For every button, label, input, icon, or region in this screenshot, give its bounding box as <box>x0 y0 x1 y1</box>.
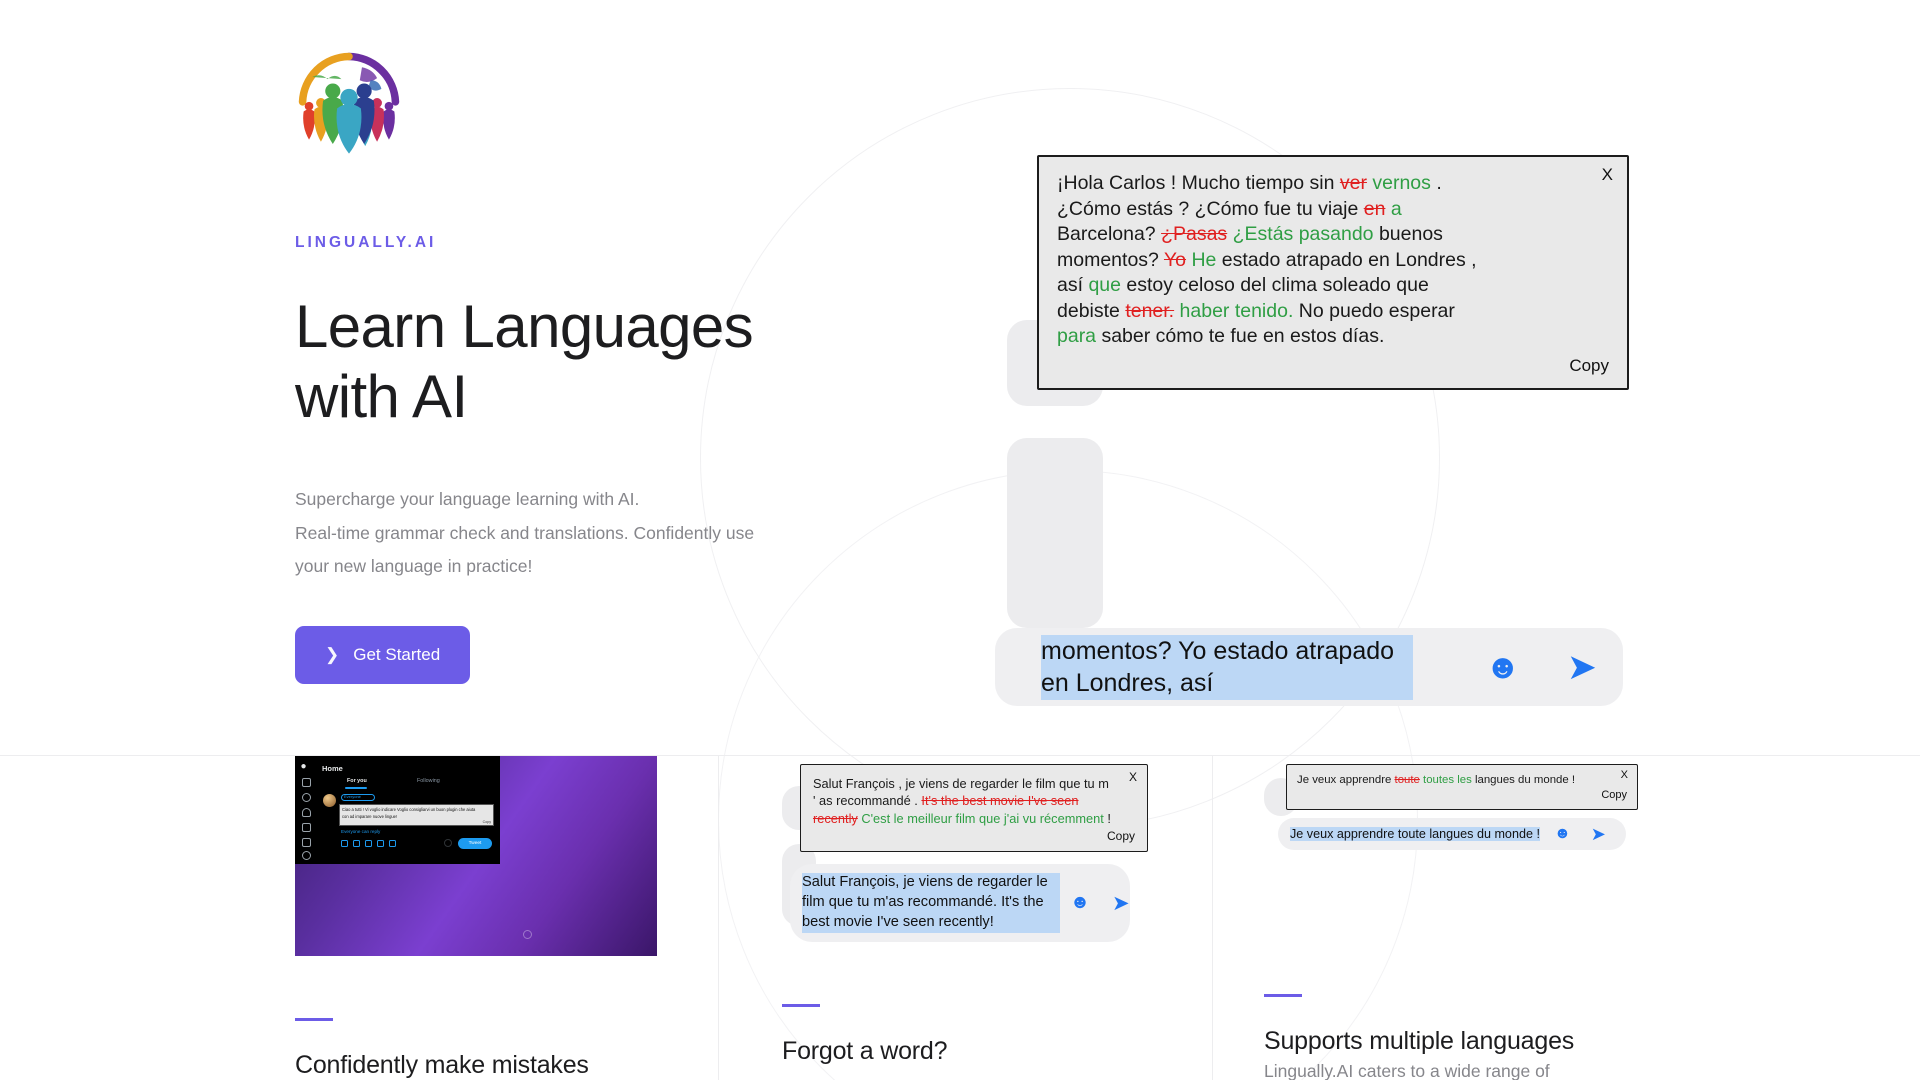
chat-input-value[interactable]: Salut François, je viens de regarder le … <box>802 873 1060 933</box>
reply-setting-label[interactable]: Everyone can reply <box>341 829 380 834</box>
search-icon[interactable] <box>302 793 311 802</box>
correction-text-line-1: Ciao a tutti ! Vi voglio indicare Voglio… <box>342 807 475 812</box>
copy-button[interactable]: Copy <box>1057 356 1609 376</box>
tweet-button[interactable]: Tweet <box>458 838 492 849</box>
deleted-text: toute <box>1395 774 1420 786</box>
inserted-text: toutes les <box>1423 774 1472 786</box>
copy-button[interactable]: Copy <box>813 829 1135 843</box>
plain-text: No puedo esperar <box>1293 300 1455 322</box>
copy-button[interactable]: Copy <box>1297 789 1627 801</box>
accent-rule <box>782 1004 820 1007</box>
chevron-right-icon: ❯ <box>325 646 339 663</box>
home-icon[interactable] <box>302 778 311 787</box>
plain-text: Je veux apprendre <box>1297 774 1395 786</box>
feature-title: Forgot a word? <box>782 1037 1162 1066</box>
globe-people-logo <box>295 50 403 158</box>
correction-popup: X Je veux apprendre toute toutes les lan… <box>1286 764 1638 810</box>
smiley-face-icon[interactable]: ☻ <box>1485 648 1521 687</box>
hero-subcopy: Supercharge your language learning with … <box>295 483 935 584</box>
correction-popup: X ¡Hola Carlos ! Mucho tiempo sin ver ve… <box>1037 155 1629 390</box>
correction-popup: Ciao a tutti ! Vi voglio indicare Voglio… <box>339 804 494 826</box>
chat-input-bar[interactable]: Je veux apprendre toute langues du monde… <box>1278 818 1626 850</box>
close-icon[interactable]: X <box>1602 165 1613 185</box>
hero-content: LINGUALLY.AI Learn Languages with AI Sup… <box>295 50 935 684</box>
chat-input-value[interactable]: Je veux apprendre toute langues du monde… <box>1290 827 1540 841</box>
deleted-text: Yo <box>1164 249 1186 271</box>
chat-input-value[interactable]: momentos? Yo estado atrapado en Londres,… <box>1041 635 1413 700</box>
smiley-face-icon[interactable]: ☻ <box>1070 892 1090 914</box>
poll-icon[interactable] <box>365 840 372 847</box>
chat-bubble-placeholder <box>1007 438 1103 628</box>
tab-for-you[interactable]: For you <box>347 778 367 784</box>
avatar <box>323 794 336 807</box>
feature-card-supports-multiple-languages: X Je veux apprendre toute toutes les lan… <box>1264 756 1664 1080</box>
headline-line-2: with AI <box>295 363 468 430</box>
image-icon[interactable] <box>341 840 348 847</box>
feature-title: Confidently make mistakes <box>295 1051 657 1080</box>
inserted-text: He <box>1191 249 1216 271</box>
feature-title: Supports multiple languages <box>1264 1027 1664 1056</box>
send-paper-plane-icon[interactable]: ➤ <box>1112 891 1130 916</box>
inserted-text: vernos <box>1372 172 1431 194</box>
brand-name: LINGUALLY.AI <box>295 234 935 252</box>
messages-icon[interactable] <box>302 823 311 832</box>
inserted-text: que <box>1088 274 1121 296</box>
twitter-bird-icon: ● <box>301 761 307 772</box>
desktop-decoration <box>523 930 532 939</box>
tab-following[interactable]: Following <box>417 778 440 784</box>
plain-text: saber cómo te fue en estos días. <box>1096 325 1384 347</box>
hero-chat-mockup: X ¡Hola Carlos ! Mucho tiempo sin ver ve… <box>995 130 1635 600</box>
copy-button[interactable]: Copy <box>483 820 491 824</box>
compose-toolbar <box>341 840 396 847</box>
plain-text: Barcelona? <box>1057 223 1161 245</box>
twitter-home-label: Home <box>322 764 343 773</box>
inserted-text: ¿Estás pasando <box>1233 223 1374 245</box>
chat-mockup-french: X Salut François , je viens de regarder … <box>782 756 1162 946</box>
headline-line-1: Learn Languages <box>295 293 753 360</box>
correction-text: Je veux apprendre toute toutes les langu… <box>1297 773 1627 788</box>
correction-text: ¡Hola Carlos ! Mucho tiempo sin ver vern… <box>1057 171 1487 350</box>
inserted-text: a <box>1391 198 1402 220</box>
correction-text-line-2: con ad imparare nuove lingue! <box>342 814 397 819</box>
inserted-text: para <box>1057 325 1096 347</box>
plain-text: ¡Hola Carlos ! Mucho tiempo sin <box>1057 172 1340 194</box>
close-icon[interactable]: X <box>1129 770 1137 784</box>
accent-rule <box>1264 994 1302 997</box>
accent-rule <box>295 1018 333 1021</box>
inserted-text: C'est le meilleur film que j'ai vu récem… <box>861 811 1103 826</box>
send-paper-plane-icon[interactable]: ➤ <box>1591 824 1606 845</box>
send-paper-plane-icon[interactable]: ➤ <box>1567 646 1597 688</box>
chat-input-bar[interactable]: momentos? Yo estado atrapado en Londres,… <box>995 628 1623 706</box>
profile-icon[interactable] <box>302 851 311 860</box>
close-icon[interactable]: X <box>1621 769 1628 781</box>
feature-body: Lingually.AI caters to a wide range of <box>1264 1056 1664 1080</box>
inserted-text: haber tenido. <box>1180 300 1294 322</box>
gif-icon[interactable] <box>353 840 360 847</box>
subcopy-line-3: your new language in practice! <box>295 556 532 576</box>
plain-text: ! <box>1104 811 1111 826</box>
deleted-text: ver <box>1340 172 1367 194</box>
feature-card-confidently-make-mistakes: ● Home For you Following Everyone Ciao <box>295 756 657 1080</box>
character-count-ring <box>444 839 452 847</box>
subcopy-line-1: Supercharge your language learning with … <box>295 489 639 509</box>
correction-text: Salut François , je viens de regarder le… <box>813 775 1113 827</box>
subcopy-line-2: Real-time grammar check and translations… <box>295 523 754 543</box>
emoji-icon[interactable] <box>377 840 384 847</box>
audience-label: Everyone <box>344 794 361 799</box>
deleted-text: ¿Pasas <box>1161 223 1227 245</box>
twitter-compose-screenshot: ● Home For you Following Everyone Ciao <box>295 756 657 956</box>
deleted-text: tener. <box>1125 300 1174 322</box>
tab-active-underline <box>345 787 367 789</box>
plain-text: langues du monde ! <box>1472 774 1575 786</box>
schedule-icon[interactable] <box>389 840 396 847</box>
get-started-button[interactable]: ❯ Get Started <box>295 626 470 684</box>
notifications-bell-icon[interactable] <box>302 808 311 817</box>
features-section: ● Home For you Following Everyone Ciao <box>0 756 1920 1080</box>
get-started-label: Get Started <box>353 645 440 665</box>
bookmarks-icon[interactable] <box>302 838 311 847</box>
feature-card-forgot-a-word: X Salut François , je viens de regarder … <box>782 756 1162 1066</box>
landing-page: LINGUALLY.AI Learn Languages with AI Sup… <box>0 0 1920 1080</box>
correction-popup: X Salut François , je viens de regarder … <box>800 764 1148 852</box>
twitter-window: ● Home For you Following Everyone Ciao <box>295 756 500 864</box>
page-title: Learn Languages with AI <box>295 292 935 431</box>
smiley-face-icon[interactable]: ☻ <box>1554 825 1571 843</box>
chat-input-bar[interactable]: Salut François, je viens de regarder le … <box>790 864 1130 942</box>
chat-mockup-multilang: X Je veux apprendre toute toutes les lan… <box>1264 756 1664 886</box>
hero-section: LINGUALLY.AI Learn Languages with AI Sup… <box>0 0 1920 755</box>
deleted-text: en <box>1364 198 1386 220</box>
